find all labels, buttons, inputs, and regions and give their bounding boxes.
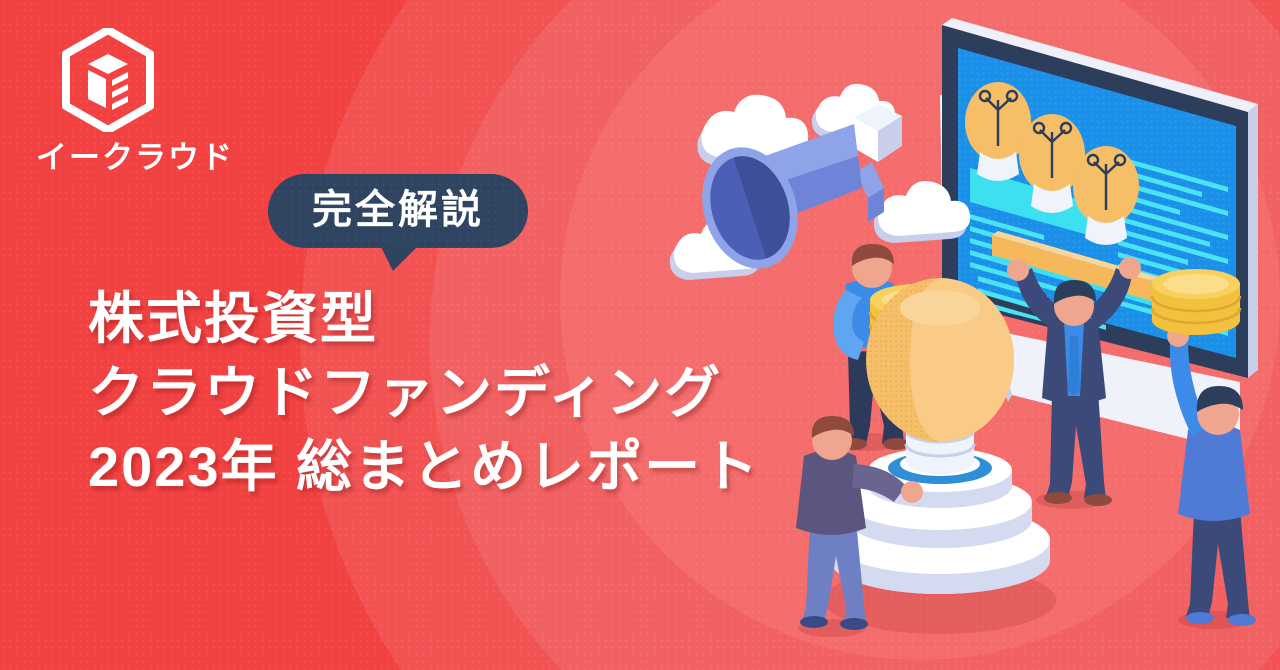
badge-tail [380, 245, 419, 271]
badge-label: 完全解説 [312, 188, 484, 232]
badge-complete-explanation[interactable]: 完全解説 [268, 174, 528, 248]
hero-illustration [640, 0, 1280, 670]
e-cloud-hexagon-cube-logo-icon [62, 28, 154, 132]
brand-logo-text: イークラウド [36, 142, 256, 173]
coin-stack [1152, 269, 1240, 335]
banner-canvas: イークラウド 完全解説 株式投資型 クラウドファンディング 2023年 総まとめ… [0, 0, 1280, 670]
brand-logo[interactable]: イークラウド [36, 28, 256, 173]
